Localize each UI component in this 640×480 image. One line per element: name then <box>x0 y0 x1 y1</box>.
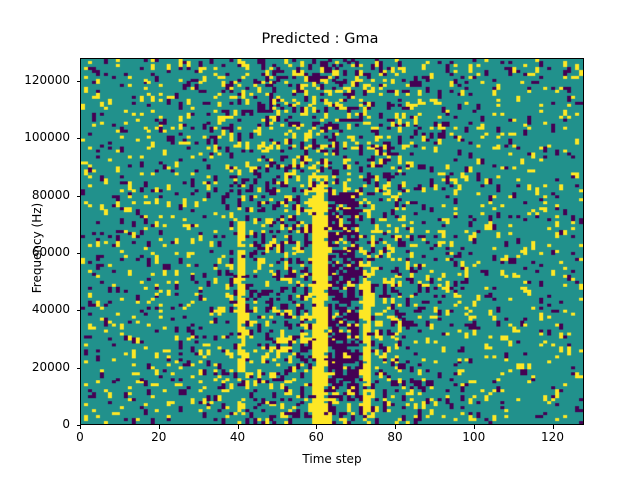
y-tick-label: 120000 <box>0 73 70 87</box>
y-tick-mark <box>77 310 81 311</box>
heatmap-axes[interactable] <box>80 58 584 425</box>
x-axis-label: Time step <box>80 452 584 466</box>
x-tick-label: 100 <box>444 430 504 444</box>
y-tick-mark <box>77 196 81 197</box>
x-tick-mark <box>238 425 239 429</box>
y-tick-mark <box>77 138 81 139</box>
y-tick-mark <box>77 81 81 82</box>
matplotlib-figure: Predicted : Gma 020406080100120020000400… <box>0 0 640 480</box>
y-axis-label: Frequency (Hz) <box>30 118 44 378</box>
x-tick-label: 0 <box>50 430 110 444</box>
y-tick-mark <box>77 425 81 426</box>
x-tick-mark <box>316 425 317 429</box>
heatmap-image[interactable] <box>81 59 583 424</box>
x-tick-mark <box>80 425 81 429</box>
x-tick-label: 40 <box>208 430 268 444</box>
x-tick-label: 80 <box>365 430 425 444</box>
x-tick-mark <box>395 425 396 429</box>
y-tick-label: 0 <box>0 417 70 431</box>
chart-title: Predicted : Gma <box>0 31 640 47</box>
x-tick-mark <box>553 425 554 429</box>
x-tick-label: 120 <box>523 430 583 444</box>
x-tick-label: 60 <box>286 430 346 444</box>
x-tick-mark <box>159 425 160 429</box>
x-tick-mark <box>474 425 475 429</box>
x-tick-label: 20 <box>129 430 189 444</box>
y-tick-mark <box>77 253 81 254</box>
y-tick-mark <box>77 368 81 369</box>
